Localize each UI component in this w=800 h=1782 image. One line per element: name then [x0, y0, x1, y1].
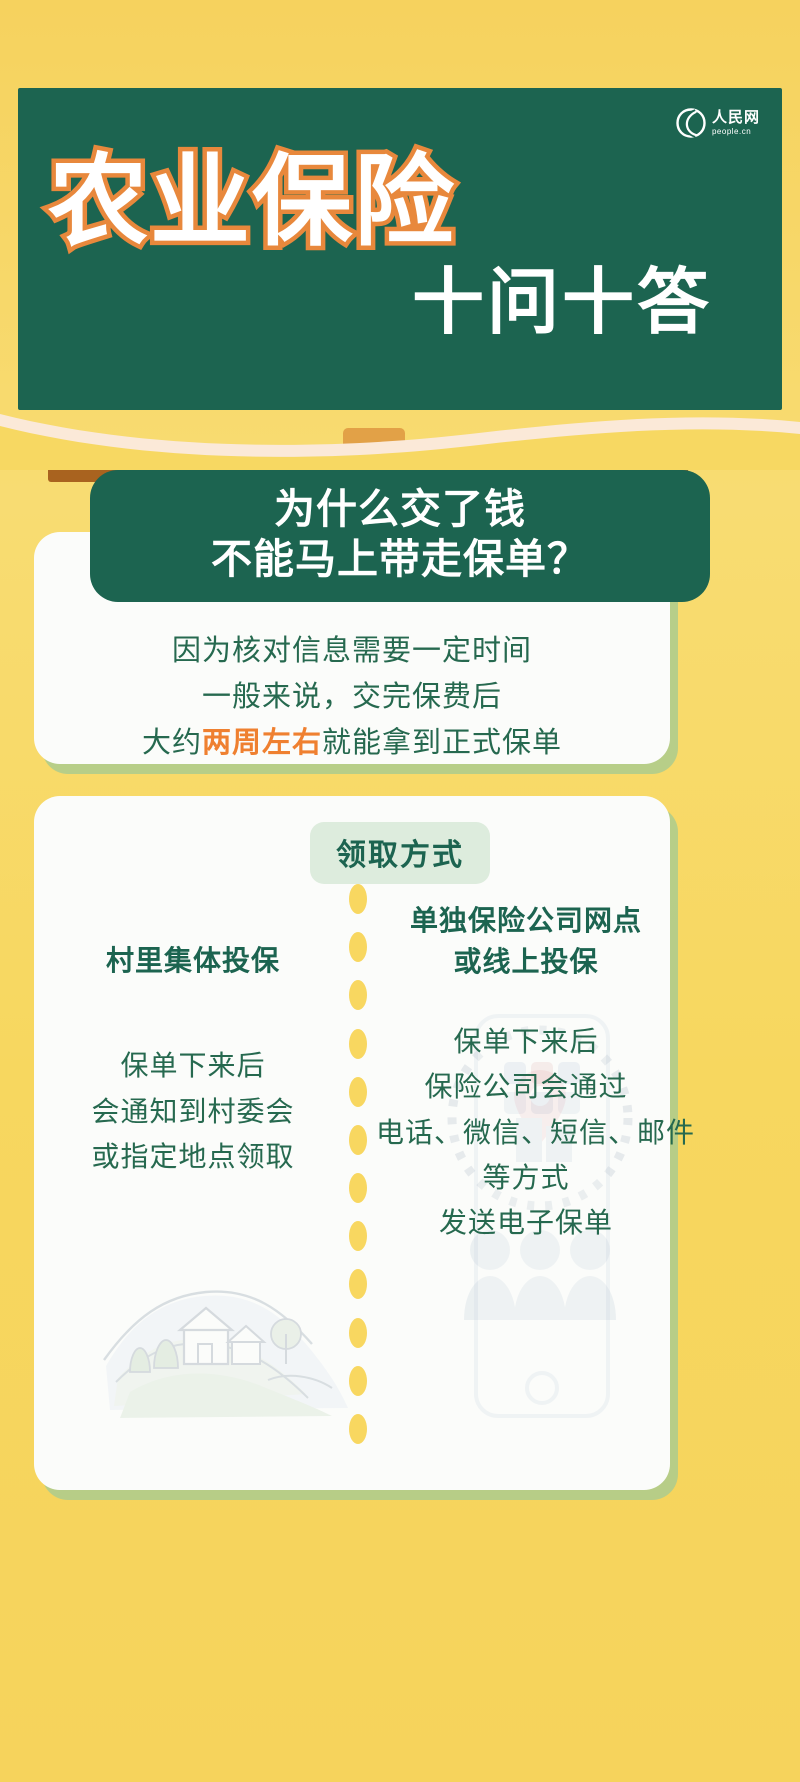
column-body-line: 保单下来后: [48, 1043, 338, 1088]
column-heading-line: 单独保险公司网点: [376, 900, 676, 941]
answer-line-3-prefix: 大约: [142, 725, 202, 759]
answer-line-3: 大约两周左右就能拿到正式保单: [34, 720, 670, 766]
column-body-line: 会通知到村委会: [48, 1089, 338, 1134]
divider-dot: [349, 884, 367, 914]
answer-line-1: 因为核对信息需要一定时间: [34, 628, 670, 674]
divider-dot: [349, 1414, 367, 1444]
village-landscape-illustration: [100, 1240, 360, 1430]
page-title-main: 农业保险: [48, 120, 456, 265]
answer-highlight-duration: 两周左右: [202, 725, 322, 759]
column-body-line: 保单下来后: [376, 1019, 676, 1064]
page-title-sub: 十问十答: [412, 243, 712, 348]
column-dotted-divider: [349, 884, 367, 1444]
divider-dot: [349, 1366, 367, 1396]
section-title-pill: 领取方式: [310, 822, 490, 884]
divider-dot: [349, 1077, 367, 1107]
column-body-line: 等方式: [376, 1155, 676, 1200]
answer-line-3-suffix: 就能拿到正式保单: [322, 725, 562, 759]
answer-text-block: 因为核对信息需要一定时间 一般来说，交完保费后 大约两周左右就能拿到正式保单: [34, 628, 670, 765]
column-body-line: 发送电子保单: [376, 1200, 676, 1245]
divider-dot: [349, 1221, 367, 1251]
column-heading-village: 村里集体投保: [48, 940, 338, 981]
column-body-village: 保单下来后 会通知到村委会 或指定地点领取: [48, 1043, 338, 1179]
infographic-page: 人民网 people.cn 农业保险 十问十答 因为核对信息需要一定时间 一般来…: [0, 0, 800, 1782]
column-body-line: 保险公司会通过: [376, 1064, 676, 1109]
wave-divider: [0, 400, 800, 470]
answer-line-2: 一般来说，交完保费后: [34, 674, 670, 720]
logo-wordmark: 人民网 people.cn: [712, 110, 760, 136]
divider-dot: [349, 1125, 367, 1155]
question-line-2: 不能马上带走保单？: [116, 534, 684, 584]
divider-dot: [349, 1318, 367, 1348]
divider-dot: [349, 980, 367, 1010]
question-banner: 为什么交了钱 不能马上带走保单？: [90, 470, 710, 602]
column-body-line: 或指定地点领取: [48, 1134, 338, 1179]
people-cn-globe-icon: [676, 108, 706, 138]
divider-dot: [349, 1269, 367, 1299]
divider-dot: [349, 932, 367, 962]
divider-dot: [349, 1029, 367, 1059]
people-cn-logo: 人民网 people.cn: [676, 108, 760, 138]
logo-cn-text: 人民网: [712, 110, 760, 125]
method-column-insurer: 单独保险公司网点 或线上投保 保单下来后 保险公司会通过 电话、微信、短信、邮件…: [376, 900, 676, 1246]
logo-en-text: people.cn: [712, 128, 760, 136]
column-heading-line: 村里集体投保: [48, 940, 338, 981]
column-heading-insurer: 单独保险公司网点 或线上投保: [376, 900, 676, 983]
column-heading-line: 或线上投保: [376, 941, 676, 982]
column-body-insurer: 保单下来后 保险公司会通过 电话、微信、短信、邮件 等方式 发送电子保单: [376, 1019, 676, 1246]
divider-dot: [349, 1173, 367, 1203]
section-title-text: 领取方式: [336, 838, 464, 873]
method-column-village: 村里集体投保 保单下来后 会通知到村委会 或指定地点领取: [48, 900, 338, 1180]
question-line-1: 为什么交了钱: [116, 484, 684, 534]
column-body-line: 电话、微信、短信、邮件: [376, 1110, 676, 1155]
